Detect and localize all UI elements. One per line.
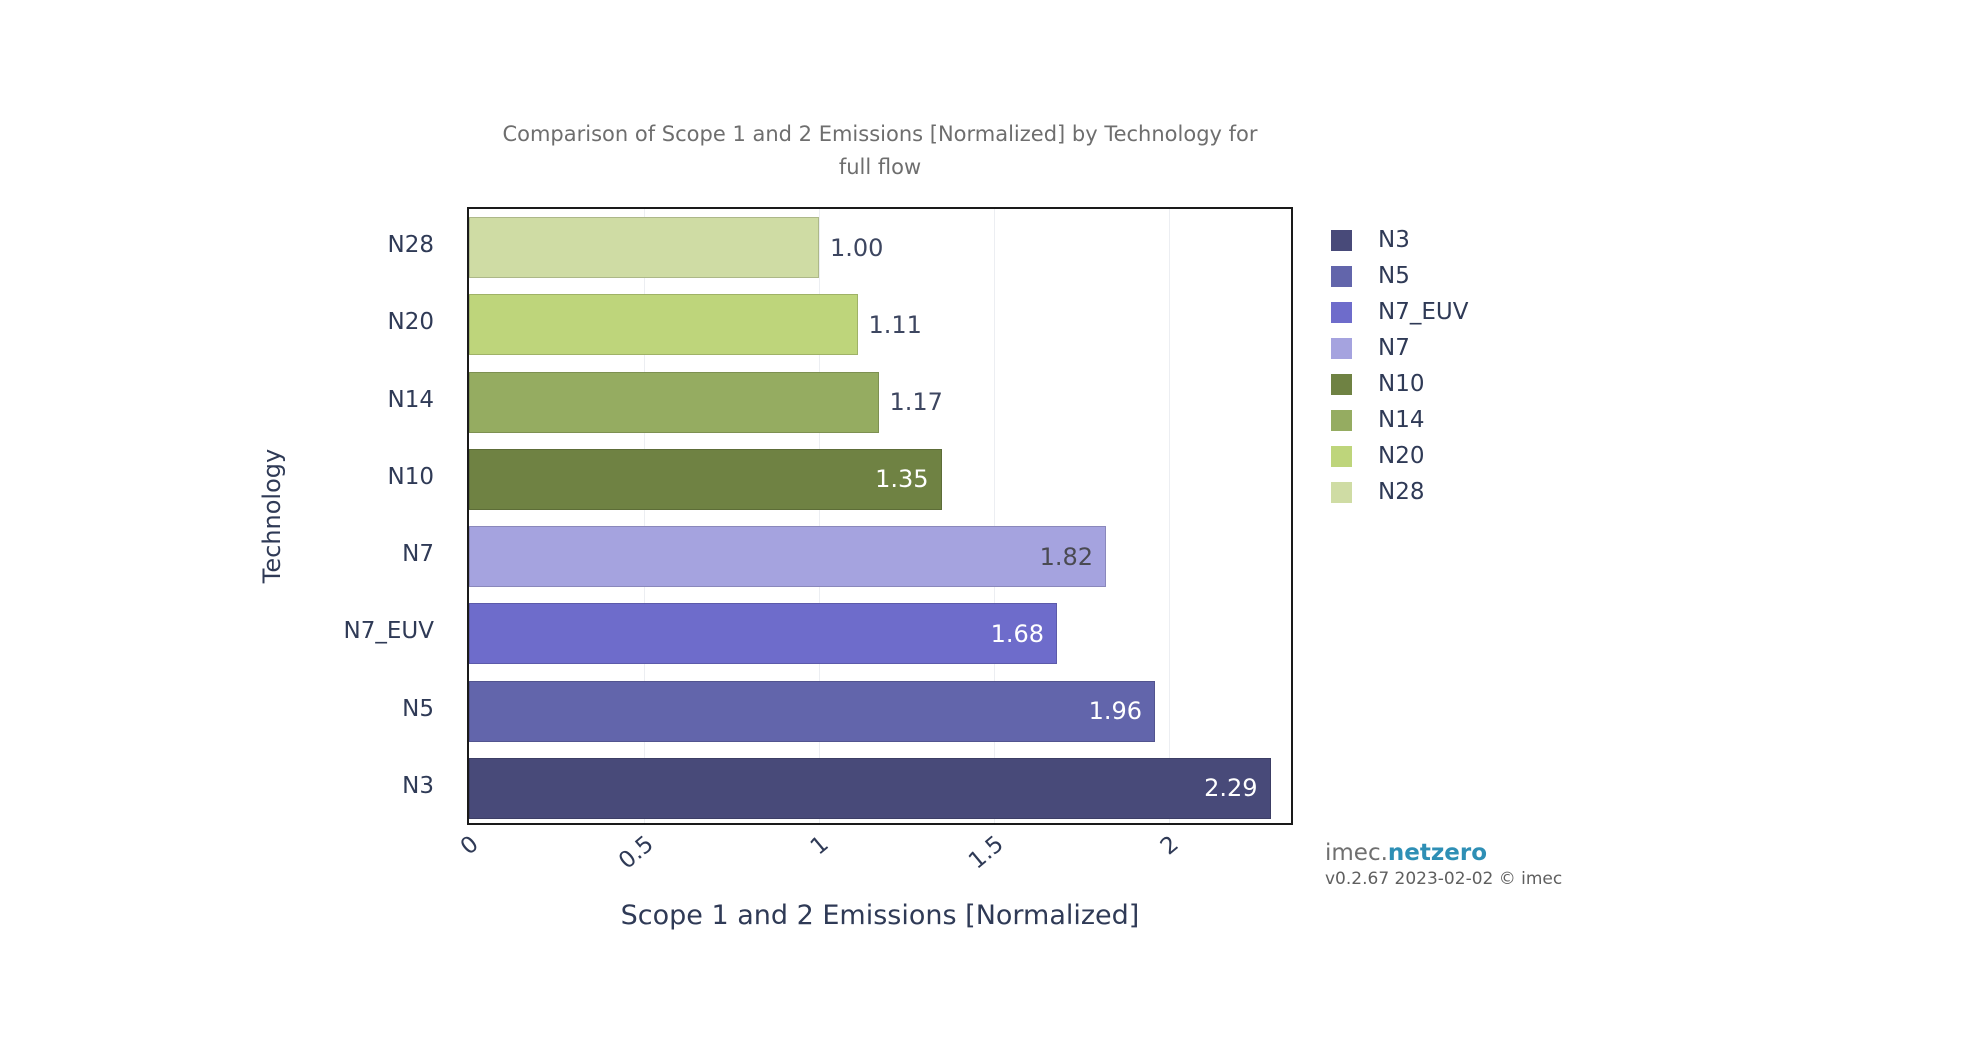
legend: N3N5N7_EUVN7N10N14N20N28 [1331,222,1468,510]
bar-value-label: 1.11 [869,311,922,339]
x-axis-title: Scope 1 and 2 Emissions [Normalized] [467,900,1293,931]
legend-label: N20 [1378,443,1424,469]
x-tick-1: 1 [771,831,834,889]
legend-label: N5 [1378,263,1410,289]
bar-value-label: 1.00 [830,234,883,262]
plot-area: 1.001.111.171.351.821.681.962.29 [467,207,1293,825]
legend-label: N7_EUV [1378,299,1468,325]
y-tick-n28: N28 [0,215,434,276]
legend-swatch-icon [1331,446,1352,467]
legend-item-n10[interactable]: N10 [1331,366,1468,402]
bar-n7[interactable]: 1.82 [469,526,1106,587]
bar-row: 1.68 [469,603,1293,664]
bar-row: 1.96 [469,681,1293,742]
legend-item-n5[interactable]: N5 [1331,258,1468,294]
x-tick-0: 0 [421,831,484,889]
y-tick-n10: N10 [0,447,434,508]
legend-label: N3 [1378,227,1410,253]
legend-item-n28[interactable]: N28 [1331,474,1468,510]
legend-swatch-icon [1331,338,1352,359]
brand-version: v0.2.67 2023-02-02 © imec [1325,869,1562,889]
legend-item-n20[interactable]: N20 [1331,438,1468,474]
chart-title: Comparison of Scope 1 and 2 Emissions [N… [467,118,1293,184]
legend-swatch-icon [1331,482,1352,503]
legend-item-n14[interactable]: N14 [1331,402,1468,438]
brand-accent: netzero [1388,840,1487,866]
bar-value-label: 1.68 [991,620,1044,648]
brand-prefix: imec. [1325,840,1388,866]
brand-footer: imec.netzero v0.2.67 2023-02-02 © imec [1325,840,1562,889]
y-tick-n7_euv: N7_EUV [0,601,434,662]
legend-item-n7_euv[interactable]: N7_EUV [1331,294,1468,330]
bar-n7_euv[interactable]: 1.68 [469,603,1057,664]
bar-row: 2.29 [469,758,1293,819]
x-axis-tick-labels: 00.511.52 [467,825,1293,895]
bar-row: 1.00 [469,217,1293,278]
bar-row: 1.11 [469,294,1293,355]
legend-swatch-icon [1331,230,1352,251]
bar-n10[interactable]: 1.35 [469,449,942,510]
legend-swatch-icon [1331,374,1352,395]
bar-n5[interactable]: 1.96 [469,681,1155,742]
legend-swatch-icon [1331,266,1352,287]
x-tick-2: 2 [1121,831,1184,889]
bar-value-label: 2.29 [1204,774,1257,802]
y-tick-n3: N3 [0,756,434,817]
legend-label: N10 [1378,371,1424,397]
x-tick-0-5: 0.5 [596,831,659,889]
bar-row: 1.17 [469,372,1293,433]
bar-value-label: 1.35 [875,465,928,493]
legend-label: N7 [1378,335,1410,361]
legend-label: N28 [1378,479,1424,505]
bar-n3[interactable]: 2.29 [469,758,1271,819]
y-axis-tick-labels: N28N20N14N10N7N7_EUVN5N3 [0,207,452,825]
bar-n14[interactable]: 1.17 [469,372,879,433]
bar-row: 1.82 [469,526,1293,587]
legend-item-n7[interactable]: N7 [1331,330,1468,366]
legend-item-n3[interactable]: N3 [1331,222,1468,258]
bar-row: 1.35 [469,449,1293,510]
x-tick-1-5: 1.5 [946,831,1009,889]
bar-n28[interactable]: 1.00 [469,217,819,278]
chart-figure: Comparison of Scope 1 and 2 Emissions [N… [0,0,1985,1043]
y-tick-n14: N14 [0,370,434,431]
bar-value-label: 1.96 [1089,697,1142,725]
y-tick-n5: N5 [0,679,434,740]
legend-swatch-icon [1331,410,1352,431]
y-tick-n7: N7 [0,524,434,585]
brand-name: imec.netzero [1325,840,1562,866]
bar-value-label: 1.82 [1040,543,1093,571]
legend-label: N14 [1378,407,1424,433]
bar-n20[interactable]: 1.11 [469,294,858,355]
y-tick-n20: N20 [0,292,434,353]
bar-value-label: 1.17 [890,388,943,416]
legend-swatch-icon [1331,302,1352,323]
